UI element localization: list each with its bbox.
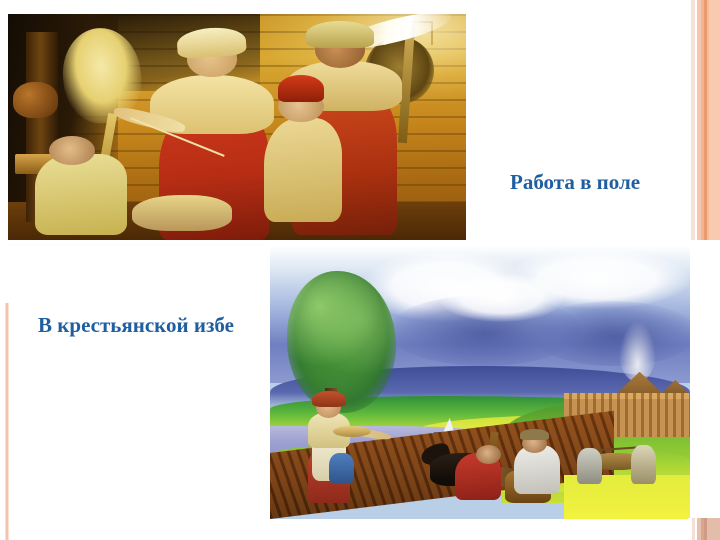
field-worker-blue	[329, 453, 354, 483]
presentation-slide: В крестьянской избе Работа в поле	[0, 0, 720, 540]
field-artwork	[270, 246, 690, 519]
decor-rule-left	[5, 303, 9, 540]
field-woman-bowl	[333, 426, 371, 437]
picture-field[interactable]	[270, 246, 690, 519]
izba-clay-pot	[13, 82, 59, 118]
izba-artwork	[8, 14, 466, 240]
caption-izba: В крестьянской избе	[30, 313, 242, 338]
izba-sheep	[132, 195, 233, 231]
decor-stripes-top-right	[688, 0, 720, 240]
field-hunter-1	[577, 448, 602, 483]
caption-field: Работа в поле	[510, 170, 660, 195]
izba-boy-body	[35, 154, 127, 235]
decor-stripe	[8, 303, 9, 540]
decor-stripes-bottom-right	[688, 518, 720, 540]
izba-child-red-cap	[278, 75, 324, 102]
field-man-white-hat	[520, 429, 549, 440]
decor-stripe	[709, 0, 720, 240]
izba-spinner-right-headdress	[306, 21, 375, 48]
decor-stripe	[707, 518, 720, 540]
izba-child-body	[264, 118, 342, 222]
field-woman-scarf	[312, 391, 346, 407]
picture-izba[interactable]	[8, 14, 466, 240]
field-hunter-2	[631, 445, 656, 483]
